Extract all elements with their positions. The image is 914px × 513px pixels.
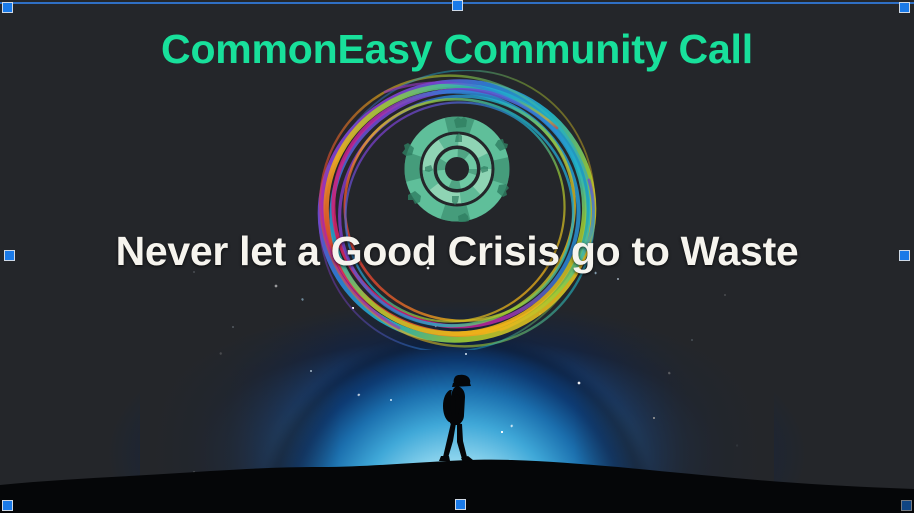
presentation-slide[interactable]: CommonEasy Community Call Never let a Go… [0,0,914,513]
commoneasy-hands-logo [398,116,516,222]
handle-top-center[interactable] [452,0,463,11]
handle-bottom-right[interactable] [901,500,912,511]
walking-person-silhouette [430,370,486,468]
handle-middle-left[interactable] [4,250,15,261]
handle-top-right[interactable] [899,2,910,13]
slide-subtitle[interactable]: Never let a Good Crisis go to Waste [0,228,914,275]
handle-bottom-center[interactable] [455,499,466,510]
handle-top-left[interactable] [2,2,13,13]
handle-bottom-left[interactable] [2,500,13,511]
slide-title[interactable]: CommonEasy Community Call [0,26,914,73]
handle-middle-right[interactable] [899,250,910,261]
